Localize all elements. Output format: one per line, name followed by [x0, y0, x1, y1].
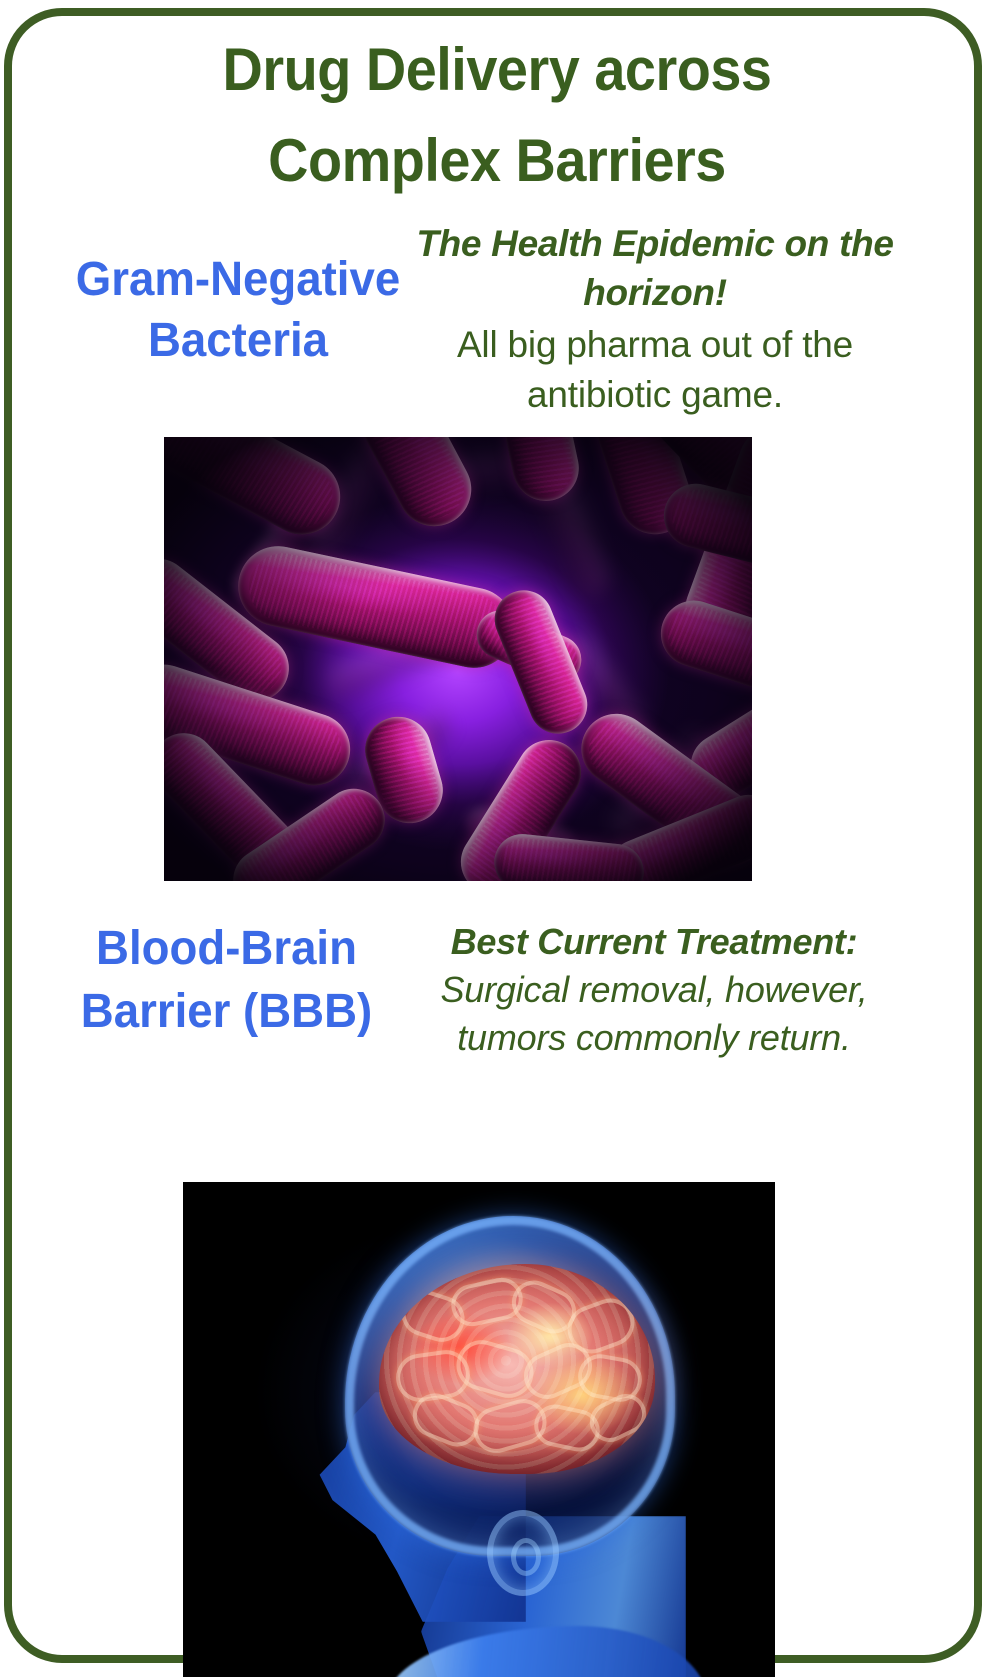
gram-negative-headline: The Health Epidemic on the horizon!	[416, 219, 894, 317]
bacteria-image-vignette	[164, 437, 752, 881]
section-label-blood-brain-barrier: Blood-Brain Barrier (BBB)	[44, 918, 410, 1044]
page-title-line-1: Drug Delivery across	[223, 36, 772, 103]
bbb-body: Surgical removal, however, tumors common…	[404, 966, 904, 1062]
section-label-gram-negative: Gram-Negative Bacteria	[39, 249, 438, 372]
bacteria-image	[164, 437, 752, 881]
bbb-headline: Best Current Treatment:	[404, 918, 904, 966]
page-title: Drug Delivery across Complex Barriers	[35, 24, 959, 206]
ear-shape	[487, 1510, 559, 1596]
slide-canvas: Drug Delivery across Complex Barriers Gr…	[0, 0, 994, 1677]
head-silhouette	[301, 1216, 701, 1677]
section-description-blood-brain-barrier: Best Current Treatment: Surgical removal…	[404, 918, 904, 1062]
brain-image	[183, 1182, 775, 1677]
brain-shape	[379, 1264, 655, 1474]
gram-negative-body: All big pharma out of the antibiotic gam…	[416, 320, 894, 418]
section-description-gram-negative: The Health Epidemic on the horizon! All …	[416, 219, 894, 419]
page-title-line-2: Complex Barriers	[268, 127, 726, 194]
